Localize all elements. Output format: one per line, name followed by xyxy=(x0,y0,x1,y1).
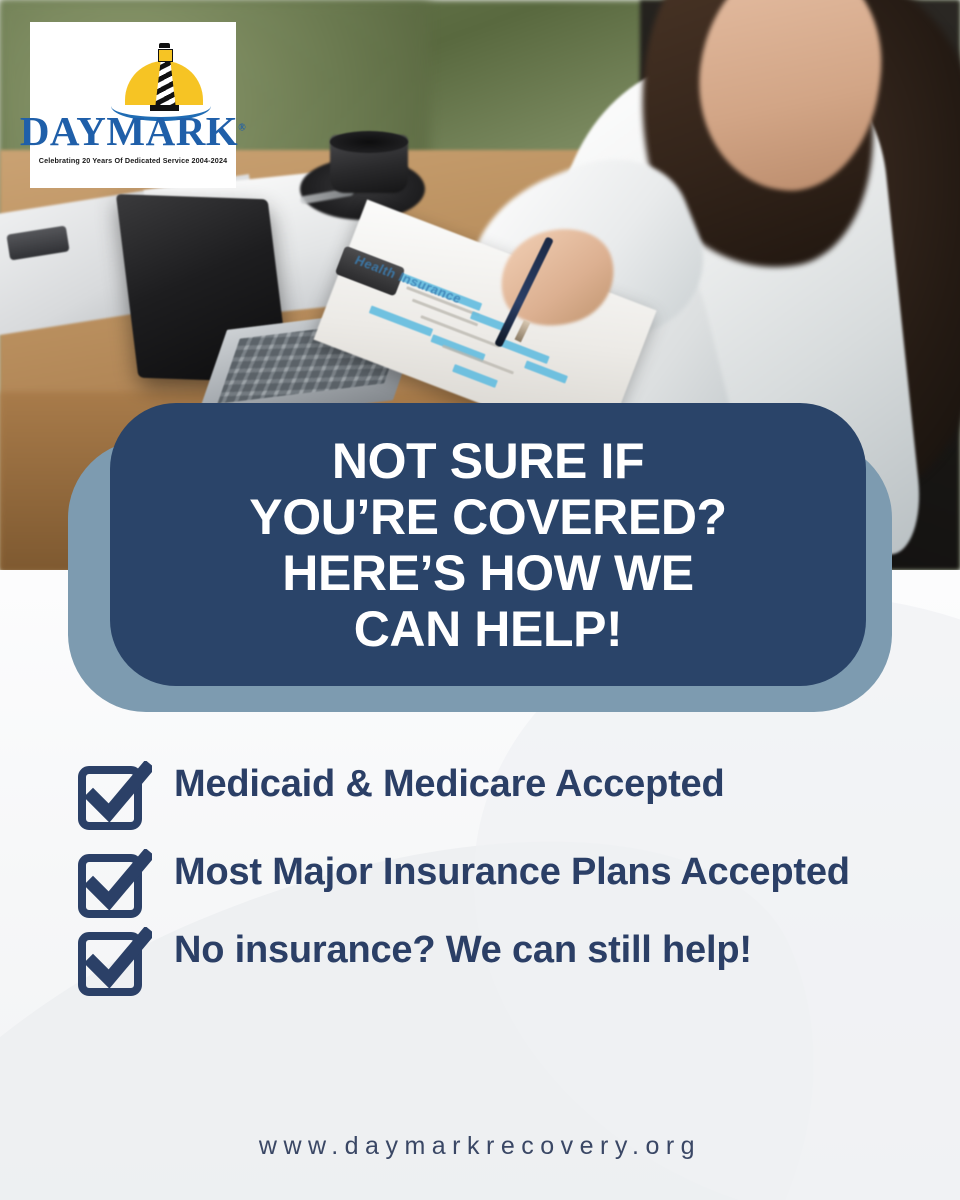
benefits-list: Medicaid & Medicare Accepted Most Major … xyxy=(78,757,908,1011)
checkbox-checked-icon xyxy=(78,761,152,831)
registered-trademark-icon: ® xyxy=(238,122,246,133)
page-title: NOT SURE IF YOU’RE COVERED? HERE’S HOW W… xyxy=(221,433,754,657)
headline-banner: NOT SURE IF YOU’RE COVERED? HERE’S HOW W… xyxy=(110,403,866,686)
headline-line-2: YOU’RE COVERED? xyxy=(249,489,726,545)
headline-line-3: HERE’S HOW WE xyxy=(249,545,726,601)
daymark-logo-card: DAYMARK® Celebrating 20 Years Of Dedicat… xyxy=(30,22,236,188)
list-item: Medicaid & Medicare Accepted xyxy=(78,757,908,831)
logo-wordmark: DAYMARK® xyxy=(20,111,246,152)
list-item: Most Major Insurance Plans Accepted xyxy=(78,845,908,919)
headline-line-1: NOT SURE IF xyxy=(249,433,726,489)
headline-line-4: CAN HELP! xyxy=(249,601,726,657)
list-item-label: No insurance? We can still help! xyxy=(152,923,752,973)
photo-coffee-surface xyxy=(330,131,408,153)
lighthouse-cap-shape xyxy=(159,43,170,48)
checkbox-checked-icon xyxy=(78,849,152,919)
checkbox-checked-icon xyxy=(78,927,152,997)
logo-tagline: Celebrating 20 Years Of Dedicated Servic… xyxy=(39,156,228,165)
lighthouse-icon xyxy=(99,45,211,115)
website-url[interactable]: www.daymarkrecovery.org xyxy=(0,1132,960,1161)
insurance-coverage-poster: Health Insurance DAYMARK® Celebrating 20… xyxy=(0,0,960,1200)
list-item-label: Medicaid & Medicare Accepted xyxy=(152,757,725,807)
list-item-label: Most Major Insurance Plans Accepted xyxy=(152,845,850,895)
logo-wordmark-text: DAYMARK xyxy=(20,108,238,154)
lighthouse-lamp-shape xyxy=(158,49,173,62)
list-item: No insurance? We can still help! xyxy=(78,923,908,997)
